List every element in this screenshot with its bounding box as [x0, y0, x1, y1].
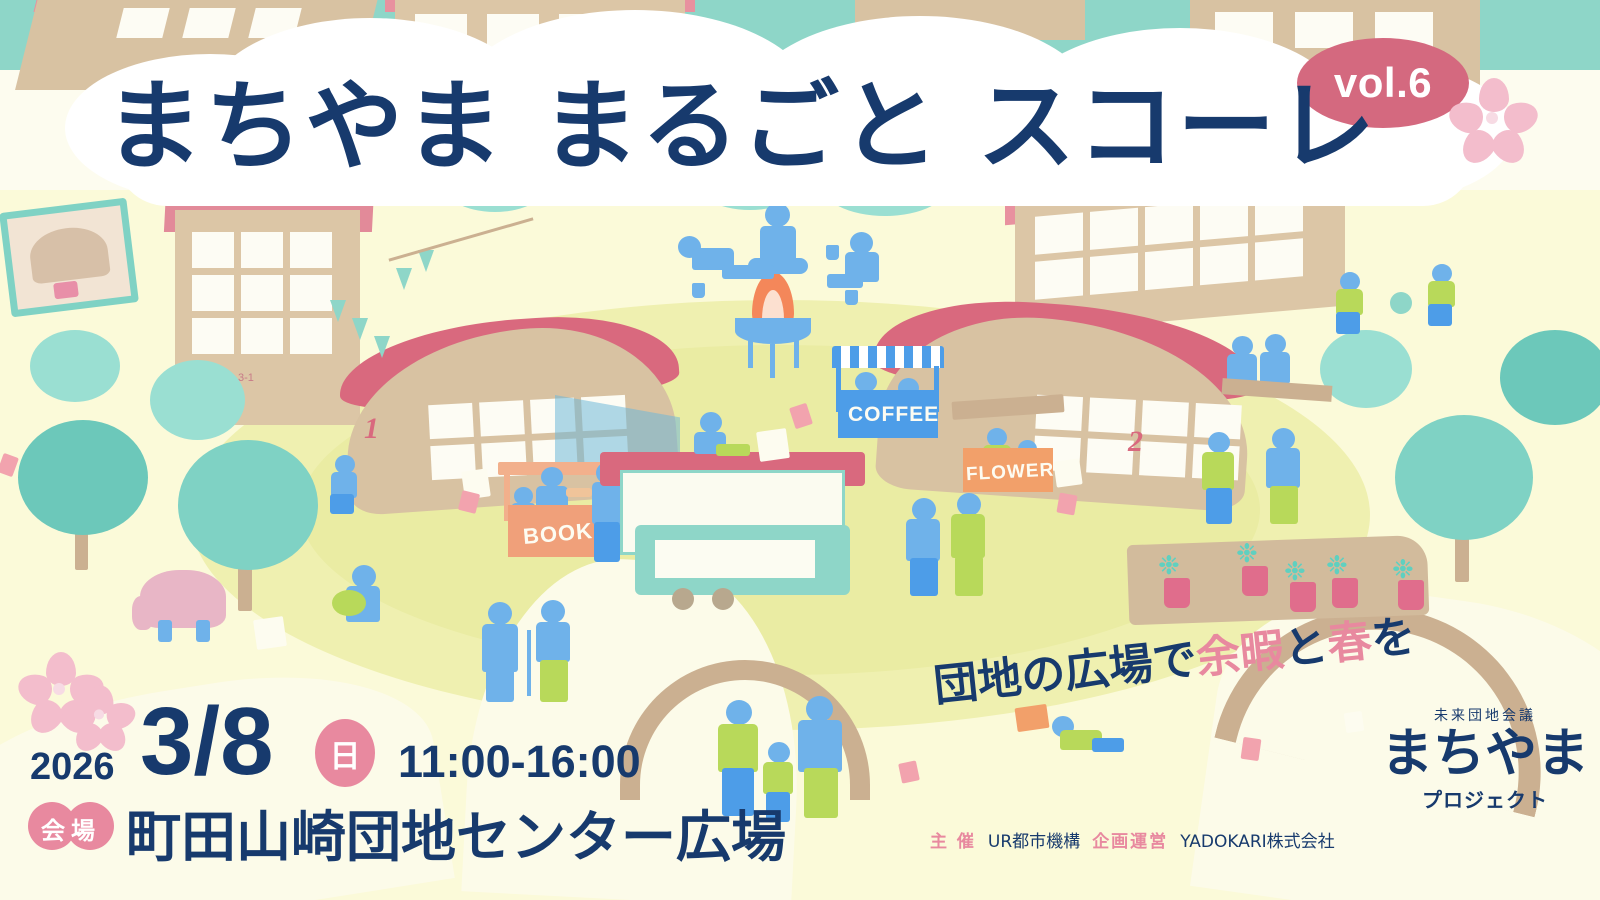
person-head: [1232, 336, 1253, 356]
venue-label: 会場: [36, 811, 106, 846]
machiyama-project-logo: 未来団地会議 まちやま プロジェクト: [1380, 705, 1590, 855]
person-body: [718, 724, 758, 772]
planter-pot: [1164, 578, 1190, 608]
event-year: 2026: [30, 746, 115, 789]
tagline-part-2: と: [1281, 620, 1330, 675]
person-body: [592, 482, 622, 524]
credit-organizer-label: 主 催: [930, 827, 976, 852]
sakura-blossom-top: [1448, 78, 1540, 170]
tree: [30, 330, 120, 402]
window: [1145, 248, 1193, 290]
planter-pot: [1332, 578, 1358, 608]
tree: [150, 360, 245, 440]
building-number-2: 2: [1128, 425, 1143, 459]
elephant-trunk: [132, 596, 154, 630]
open-book: [1014, 704, 1049, 732]
person-legs: [540, 660, 568, 702]
person-legs: [716, 444, 750, 456]
trailer-window: [655, 540, 815, 578]
planter-pot: [1290, 582, 1316, 612]
person-body: [906, 519, 940, 561]
person-head: [352, 565, 376, 588]
credit-producer-value: YADOKARI株式会社: [1180, 827, 1334, 852]
person-body: [1202, 452, 1234, 490]
window: [192, 232, 234, 268]
sand-bucket-toy: [53, 281, 79, 300]
person-legs: [330, 494, 354, 514]
picnic-sheet: [1053, 458, 1082, 487]
confetti: [898, 760, 920, 783]
window: [290, 275, 332, 311]
plant-sprout-icon: ❉: [1158, 552, 1180, 578]
sakura-petal: [1479, 78, 1509, 112]
window: [290, 318, 332, 354]
planter-pot: [1242, 566, 1268, 596]
window: [290, 232, 332, 268]
event-date-row: 2026 3/8 日 11:00-16:00: [28, 700, 688, 795]
window: [192, 275, 234, 311]
person-legs: [486, 668, 514, 702]
window: [1086, 438, 1134, 474]
person-legs: [1270, 486, 1298, 524]
window: [1035, 258, 1083, 300]
person-body: [536, 622, 570, 662]
person-legs: [1206, 488, 1232, 524]
window: [241, 275, 283, 311]
coffee-stall-awning: [832, 346, 944, 368]
person-body: [1260, 352, 1290, 384]
person-body: [798, 720, 842, 772]
person-head: [855, 372, 877, 392]
confetti: [1344, 711, 1365, 733]
tagline-highlight-1: 余暇: [1194, 625, 1287, 685]
person-head: [541, 467, 563, 487]
person-body: [763, 762, 793, 794]
firepit-leg: [794, 340, 799, 368]
person-head: [541, 600, 565, 623]
person-head: [912, 498, 936, 521]
venue-label-badge: 会場: [28, 802, 114, 850]
firepit-leg: [748, 340, 753, 368]
person-head: [726, 700, 752, 725]
window: [479, 400, 525, 436]
firepit-bowl: [735, 318, 811, 344]
tree: [178, 440, 318, 570]
weekday-badge: 日: [315, 719, 375, 787]
plant-sprout-icon: ❉: [1326, 552, 1348, 578]
window: [241, 232, 283, 268]
flower-stall-label: FLOWER: [965, 460, 1050, 486]
venue-name: 町田山崎団地センター広場: [126, 792, 786, 872]
tagline-part-3: を: [1369, 611, 1418, 666]
plant-sprout-icon: ❉: [1392, 556, 1414, 582]
weekday-badge-label: 日: [330, 731, 361, 776]
tree: [1395, 415, 1533, 540]
confetti: [1056, 493, 1077, 516]
window: [1255, 238, 1303, 280]
cup: [845, 290, 858, 305]
plant-sprout-icon: ❉: [1236, 540, 1258, 566]
cup: [826, 245, 839, 260]
event-time: 11:00-16:00: [398, 736, 641, 788]
person-legs: [1428, 304, 1452, 326]
guitar: [332, 590, 366, 616]
event-venue-row: 会場 町田山崎団地センター広場: [28, 798, 788, 860]
person-legs: [827, 274, 863, 288]
tree: [1500, 330, 1600, 425]
person-legs: [955, 556, 983, 596]
building-number-1: 1: [364, 412, 379, 446]
window: [241, 318, 283, 354]
person-body: [482, 624, 518, 672]
sakura-center: [1486, 112, 1498, 124]
window: [192, 318, 234, 354]
person-arm: [566, 488, 592, 497]
person-head: [1208, 432, 1230, 453]
credit-organizer-value: UR都市機構: [988, 827, 1080, 852]
person-body: [1266, 448, 1300, 488]
person-head: [850, 232, 873, 254]
window: [1090, 253, 1138, 295]
person-legs: [1336, 312, 1360, 334]
window: [1141, 400, 1189, 436]
plant-sprout-icon: ❉: [1284, 558, 1306, 584]
credit-producer-label: 企画運営: [1092, 827, 1168, 852]
picnic-sheet: [756, 428, 790, 462]
confetti: [1241, 737, 1262, 761]
window: [1035, 213, 1083, 255]
logo-name: まちやま: [1380, 727, 1590, 782]
cane: [527, 630, 531, 696]
tagline-highlight-2: 春: [1325, 615, 1374, 670]
person-head: [700, 412, 722, 433]
apartment-window-grid: [192, 232, 332, 354]
credits: 主 催 UR都市機構 企画運営 YADOKARI株式会社: [930, 826, 1335, 852]
page-title: まちやま まるごと スコーレ: [105, 78, 1485, 176]
person-head: [806, 696, 833, 722]
person-body: [951, 514, 985, 558]
person-legs: [594, 522, 620, 562]
person-head: [768, 742, 790, 763]
tree: [1320, 330, 1412, 408]
person-head: [1272, 428, 1295, 450]
person-legs: [722, 265, 774, 279]
person-legs: [1092, 738, 1124, 752]
elephant-leg: [196, 620, 210, 642]
tree: [18, 420, 148, 535]
elephant-leg: [158, 620, 172, 642]
window: [1090, 208, 1138, 250]
window: [1200, 243, 1248, 285]
person-legs: [804, 768, 838, 818]
window: [1139, 441, 1187, 477]
coffee-stall-label: COFFEE: [848, 403, 930, 427]
person-legs: [910, 558, 938, 596]
trailer-wheel: [712, 588, 734, 610]
ball: [1390, 292, 1412, 314]
person-head: [1265, 334, 1286, 354]
event-poster: 3-1 1: [0, 0, 1600, 900]
sakura-center: [53, 683, 65, 695]
window: [428, 403, 474, 439]
picnic-sheet: [253, 616, 287, 650]
event-date: 3/8: [140, 694, 273, 790]
person-head: [957, 493, 981, 516]
firepit-leg: [770, 344, 775, 378]
logo-tagline: 未来団地会議: [1380, 705, 1590, 725]
cup: [692, 283, 705, 298]
person-head: [488, 602, 512, 625]
logo-subtitle: プロジェクト: [1380, 784, 1590, 813]
trailer-wheel: [672, 588, 694, 610]
